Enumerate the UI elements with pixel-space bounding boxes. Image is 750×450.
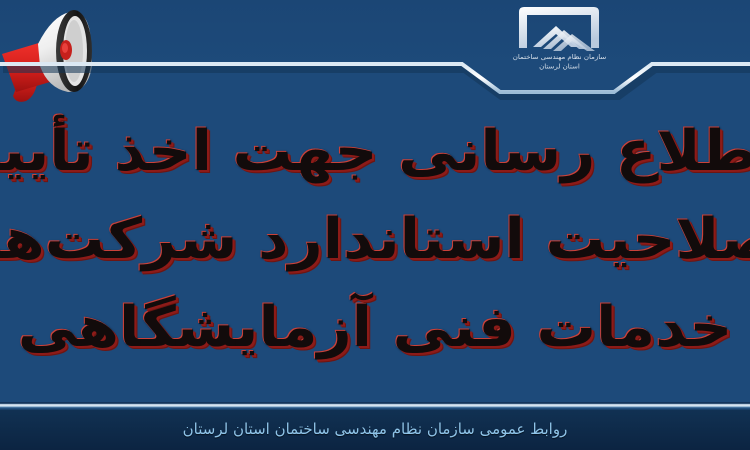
organization-logo-caption: سازمان نظام مهندسی ساختمان استان لرستان (497, 53, 622, 71)
logo-caption-line-2: استان لرستان (497, 62, 622, 71)
headline-line-3: خدمات فنی آزمایشگاهی (0, 284, 750, 372)
footer-text: روابط عمومی سازمان نظام مهندسی ساختمان ا… (0, 412, 750, 446)
decorative-chevron-rule (0, 38, 750, 100)
organization-logo: سازمان نظام مهندسی ساختمان استان لرستان (497, 2, 622, 110)
headline-line-1: اطلاع رسانی جهت اخذ تأیید (0, 108, 750, 196)
announcement-banner: سازمان نظام مهندسی ساختمان استان لرستان … (0, 0, 750, 450)
organization-logo-mark (509, 4, 609, 56)
logo-caption-line-1: سازمان نظام مهندسی ساختمان (497, 53, 622, 62)
footer-divider (0, 402, 750, 410)
headline-line-2: صلاحیت استاندارد شرکت‌های (0, 196, 750, 284)
headline-block: اطلاع رسانی جهت اخذ تأیید صلاحیت استاندا… (0, 108, 750, 398)
